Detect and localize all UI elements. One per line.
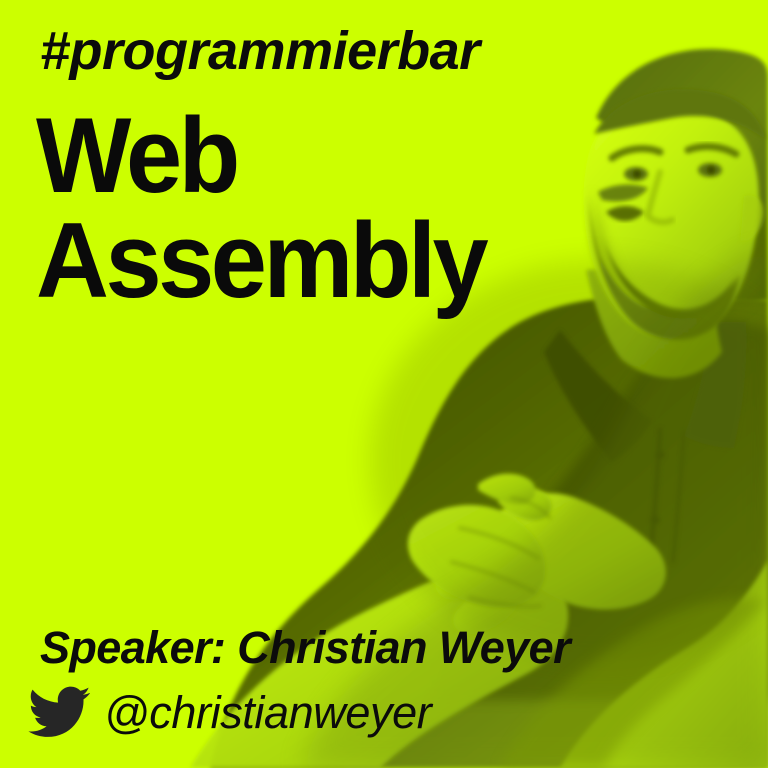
twitter-handle-label: @christianweyer <box>104 690 431 735</box>
podcast-episode-poster: #programmierbar Web Assembly Speaker: Ch… <box>0 0 768 768</box>
page-title: Web Assembly <box>36 104 485 314</box>
twitter-bird-icon <box>28 686 90 738</box>
twitter-handle-row[interactable]: @christianweyer <box>28 686 431 738</box>
speaker-name-label: Speaker: Christian Weyer <box>40 625 570 670</box>
poster-text-layer: #programmierbar Web Assembly Speaker: Ch… <box>0 0 768 768</box>
podcast-hashtag: #programmierbar <box>40 24 480 78</box>
